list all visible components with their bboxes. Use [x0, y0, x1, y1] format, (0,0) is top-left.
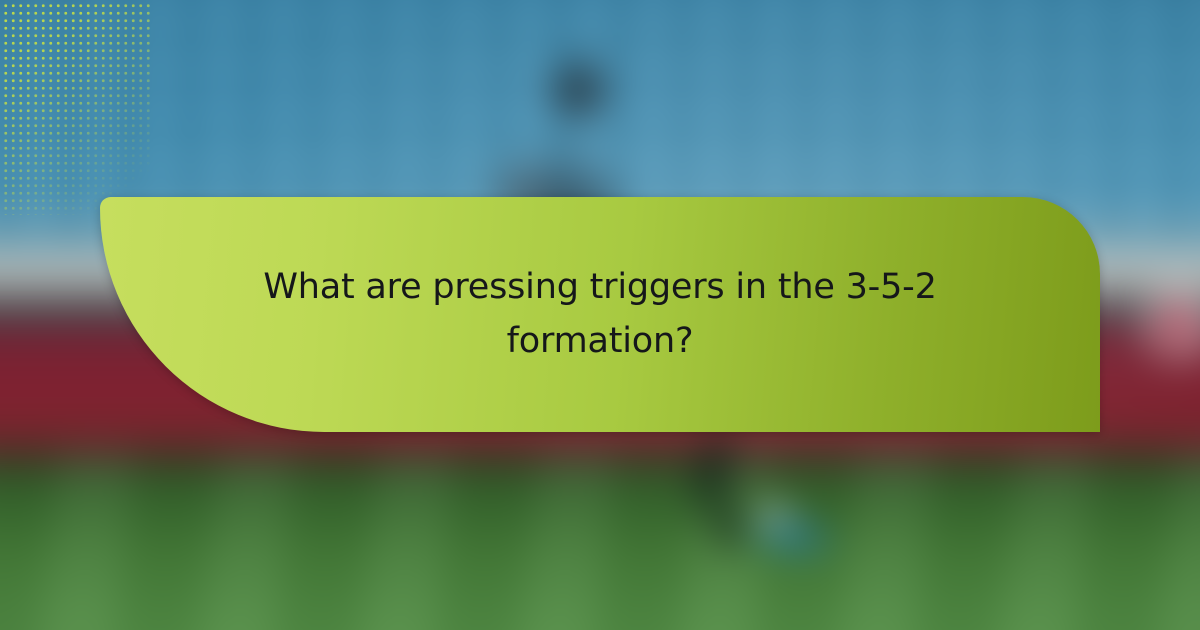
og-image-canvas: What are pressing triggers in the 3-5-2 … — [0, 0, 1200, 630]
question-card: What are pressing triggers in the 3-5-2 … — [100, 197, 1100, 432]
halftone-dots-decoration — [0, 0, 150, 215]
question-title: What are pressing triggers in the 3-5-2 … — [250, 261, 950, 367]
